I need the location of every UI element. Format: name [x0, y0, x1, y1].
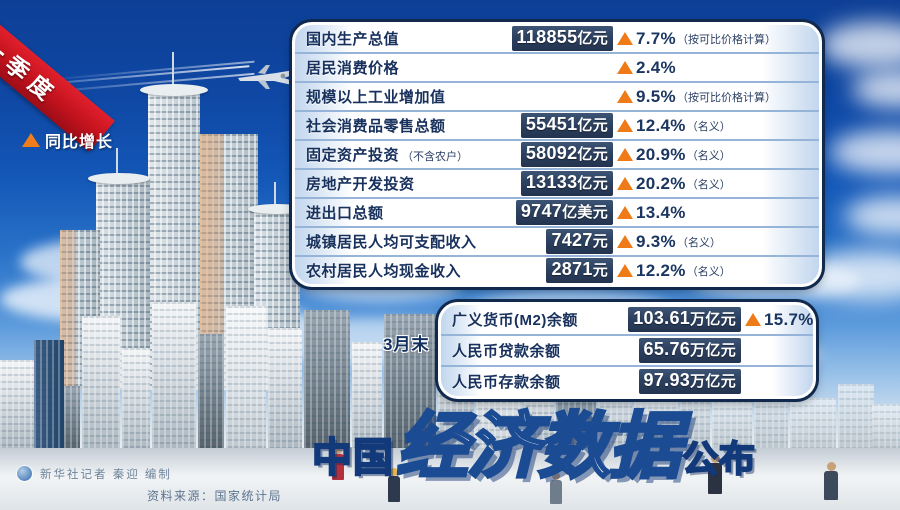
row-label: 人民币贷款余额 [441, 340, 561, 361]
person-figure [386, 468, 402, 502]
main-indicators-rows: 国内生产总值 118855亿元 7.7%（按可比价格计算） 居民消费价格 2.4… [295, 25, 819, 284]
up-triangle-icon [617, 264, 633, 277]
monetary-rows: 广义货币(M2)余额 103.61万亿元 15.7% 人民币贷款余额 65.76… [441, 305, 813, 396]
up-triangle-icon [617, 90, 633, 103]
row-note: （名义） [687, 263, 740, 279]
row-unit: 亿元 [577, 117, 608, 134]
table-row: 固定资产投资（不含农户） 58092亿元 20.9%（名义） [295, 141, 819, 170]
table-row: 房地产开发投资 13133亿元 20.2%（名义） [295, 170, 819, 199]
month-label: 3月末 [383, 330, 429, 355]
up-triangle-icon [745, 313, 761, 326]
row-value-badge: 118855亿元 [512, 26, 613, 51]
row-unit: 亿元 [577, 30, 608, 47]
row-unit: 万亿元 [690, 311, 736, 328]
row-pct: 12.4% [636, 116, 686, 136]
credit-text: 新华社记者 秦迎 编制 [40, 466, 172, 482]
legend-label: 同比增长 [45, 128, 113, 152]
person-figure [822, 462, 840, 500]
table-row: 社会消费品零售总额 55451亿元 12.4%（名义） [295, 112, 819, 141]
row-value-badge: 9747亿美元 [516, 200, 613, 225]
row-label: 房地产开发投资 [295, 173, 415, 194]
table-row: 广义货币(M2)余额 103.61万亿元 15.7% [441, 305, 813, 336]
row-unit: 亿元 [577, 146, 608, 163]
up-triangle-icon [617, 206, 633, 219]
infographic-canvas: 一季度 同比增长 [0, 0, 900, 510]
row-note: （名义） [677, 234, 730, 250]
row-note: （名义） [687, 118, 740, 134]
row-value: 55451 [526, 114, 578, 134]
row-pct: 9.3% [636, 232, 676, 252]
up-triangle-icon [22, 133, 40, 147]
row-value-badge: 58092亿元 [521, 142, 613, 167]
row-pct: 9.5% [636, 87, 676, 107]
row-label: 农村居民人均现金收入 [295, 260, 461, 281]
up-triangle-icon [617, 148, 633, 161]
row-value-badge: 103.61万亿元 [628, 307, 741, 332]
row-value: 58092 [526, 143, 578, 163]
person-figure [706, 454, 724, 494]
row-sublabel: （不含农户） [402, 148, 468, 164]
table-row: 人民币存款余额 97.93万亿元 [441, 367, 813, 396]
up-triangle-icon [617, 177, 633, 190]
row-unit: 亿美元 [562, 204, 608, 221]
up-triangle-icon [617, 119, 633, 132]
row-value-badge: 65.76万亿元 [639, 338, 741, 363]
person-figure [330, 446, 346, 480]
row-label: 进出口总额 [295, 202, 384, 223]
row-value-badge: 2871元 [546, 258, 613, 283]
credit-line: 新华社记者 秦迎 编制 [16, 465, 172, 482]
monetary-panel: 广义货币(M2)余额 103.61万亿元 15.7% 人民币贷款余额 65.76… [438, 302, 816, 399]
row-pct: 20.2% [636, 174, 686, 194]
row-value-badge: 97.93万亿元 [639, 369, 741, 394]
row-value: 118855 [517, 27, 578, 47]
row-pct: 2.4% [636, 58, 676, 78]
row-label: 固定资产投资 [295, 144, 399, 165]
table-row: 进出口总额 9747亿美元 13.4% [295, 199, 819, 228]
row-label: 社会消费品零售总额 [295, 115, 446, 136]
row-value-badge: 55451亿元 [521, 113, 613, 138]
table-row: 规模以上工业增加值 9.5%（按可比价格计算） [295, 83, 819, 112]
table-row: 国内生产总值 118855亿元 7.7%（按可比价格计算） [295, 25, 819, 54]
row-note: （按可比价格计算） [677, 89, 785, 105]
table-row: 城镇居民人均可支配收入 7427元 9.3%（名义） [295, 228, 819, 257]
row-pct: 15.7% [764, 310, 813, 330]
row-value: 65.76 [644, 339, 691, 359]
row-label: 城镇居民人均可支配收入 [295, 231, 477, 252]
main-indicators-panel: 国内生产总值 118855亿元 7.7%（按可比价格计算） 居民消费价格 2.4… [292, 22, 822, 287]
row-unit: 亿元 [577, 175, 608, 192]
row-value: 7427 [551, 230, 592, 250]
row-value: 9747 [521, 201, 562, 221]
row-pct: 20.9% [636, 145, 686, 165]
row-unit: 万亿元 [690, 373, 736, 390]
row-value: 97.93 [644, 370, 691, 390]
table-row: 居民消费价格 2.4% [295, 54, 819, 83]
row-pct: 12.2% [636, 261, 686, 281]
legend: 同比增长 [22, 128, 113, 152]
up-triangle-icon [617, 61, 633, 74]
row-label: 广义货币(M2)余额 [441, 309, 578, 330]
row-label: 居民消费价格 [295, 57, 399, 78]
row-pct: 7.7% [636, 29, 676, 49]
row-value-badge: 13133亿元 [521, 171, 613, 196]
row-value-badge: 7427元 [546, 229, 613, 254]
row-note: （名义） [687, 176, 740, 192]
row-unit: 万亿元 [690, 342, 736, 359]
row-pct: 13.4% [636, 203, 686, 223]
up-triangle-icon [617, 32, 633, 45]
source-text: 资料来源：国家统计局 [147, 487, 282, 504]
table-row: 人民币贷款余额 65.76万亿元 [441, 336, 813, 367]
person-figure [548, 472, 564, 504]
table-row: 农村居民人均现金收入 2871元 12.2%（名义） [295, 257, 819, 284]
row-value: 13133 [526, 172, 578, 192]
row-value: 103.61 [633, 308, 690, 328]
row-value: 2871 [551, 259, 592, 279]
up-triangle-icon [617, 235, 633, 248]
row-label: 人民币存款余额 [441, 371, 561, 392]
xinhua-logo-icon [16, 465, 33, 482]
row-note: （按可比价格计算） [677, 31, 785, 47]
row-unit: 元 [593, 233, 608, 250]
row-unit: 元 [593, 262, 608, 279]
row-note: （名义） [687, 147, 740, 163]
row-label: 国内生产总值 [295, 28, 399, 49]
row-label: 规模以上工业增加值 [295, 86, 446, 107]
airplane-icon [236, 64, 300, 90]
